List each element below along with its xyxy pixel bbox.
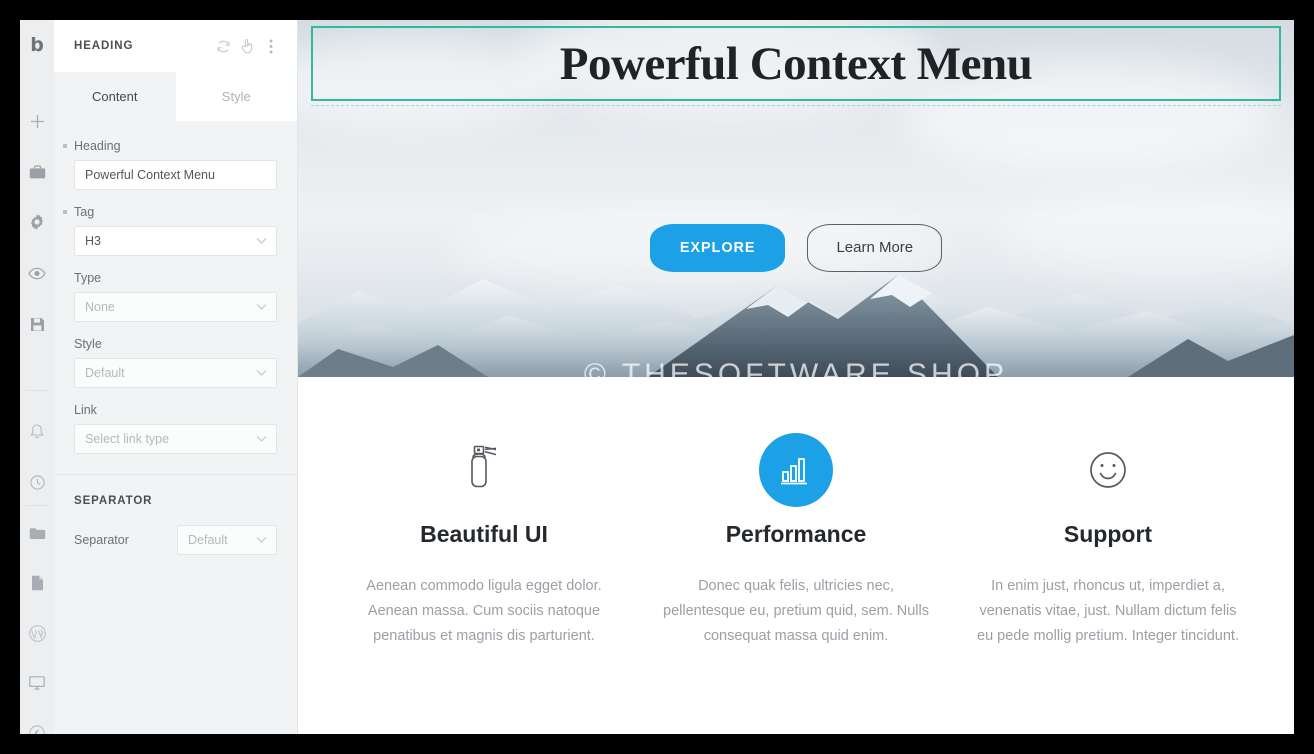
feature-text: Aenean commodo ligula egget dolor. Aenea… <box>350 574 618 649</box>
icon-circle <box>759 433 833 507</box>
spray-can-icon <box>350 433 618 507</box>
logo-icon[interactable]: b <box>20 28 54 62</box>
save-icon[interactable] <box>20 307 54 341</box>
feature-card: Performance Donec quak felis, ultricies … <box>640 433 952 649</box>
features-section: Beautiful UI Aenean commodo ligula egget… <box>298 377 1294 649</box>
hero-button-row: EXPLORE Learn More <box>298 224 1294 272</box>
feature-text: In enim just, rhoncus ut, imperdiet a, v… <box>974 574 1242 649</box>
separator-row: Separator Default <box>54 507 297 555</box>
bell-icon[interactable] <box>20 415 54 449</box>
chevron-down-icon <box>256 238 267 245</box>
hand-pointer-icon[interactable] <box>235 34 259 58</box>
separator-select[interactable]: Default <box>177 525 277 555</box>
required-dot-icon <box>63 144 67 148</box>
settings-panel: HEADING Content Style <box>54 20 298 734</box>
link-field-label: Link <box>74 403 277 417</box>
document-icon[interactable] <box>20 566 54 600</box>
learn-more-button[interactable]: Learn More <box>807 224 942 272</box>
label-text: Heading <box>74 139 121 153</box>
heading-input[interactable]: Powerful Context Menu <box>74 160 277 190</box>
reset-icon[interactable] <box>211 34 235 58</box>
feature-title: Support <box>974 521 1242 548</box>
style-select-placeholder: Default <box>85 366 125 380</box>
link-select[interactable]: Select link type <box>74 424 277 454</box>
separator-row-label: Separator <box>74 533 177 547</box>
label-text: Tag <box>74 205 94 219</box>
tab-style[interactable]: Style <box>176 72 298 121</box>
selection-guide-line <box>311 105 1281 106</box>
panel-title: HEADING <box>74 40 211 52</box>
tab-content[interactable]: Content <box>54 72 176 121</box>
link-select-placeholder: Select link type <box>85 432 169 446</box>
tag-field-label: Tag <box>74 205 277 219</box>
chevron-down-icon <box>256 537 267 544</box>
style-select[interactable]: Default <box>74 358 277 388</box>
required-dot-icon <box>63 210 67 214</box>
type-select[interactable]: None <box>74 292 277 322</box>
field-group: Heading Powerful Context Menu Tag H3 <box>54 121 297 454</box>
add-icon[interactable] <box>20 104 54 138</box>
label-text: Style <box>74 337 102 351</box>
tab-content-label: Content <box>92 89 138 104</box>
style-field-label: Style <box>74 337 277 351</box>
more-vertical-icon[interactable] <box>259 34 283 58</box>
wordpress-icon[interactable] <box>20 616 54 650</box>
rail-divider-1 <box>26 390 48 391</box>
panel-header: HEADING <box>54 20 297 72</box>
panel-body: Heading Powerful Context Menu Tag H3 <box>54 121 297 734</box>
logo-label: b <box>30 36 44 55</box>
separator-select-placeholder: Default <box>188 533 228 547</box>
label-text: Link <box>74 403 97 417</box>
feature-card: Beautiful UI Aenean commodo ligula egget… <box>328 433 640 649</box>
chevron-down-icon <box>256 304 267 311</box>
collapse-icon[interactable] <box>20 716 54 734</box>
explore-button[interactable]: EXPLORE <box>650 224 786 272</box>
feature-title: Beautiful UI <box>350 521 618 548</box>
page-canvas[interactable]: Powerful Context Menu EXPLORE Learn More… <box>298 20 1294 734</box>
smiley-icon <box>974 433 1242 507</box>
rail-divider-2 <box>26 505 48 506</box>
folder-icon[interactable] <box>20 516 54 550</box>
eye-icon[interactable] <box>20 256 54 290</box>
type-select-placeholder: None <box>85 300 115 314</box>
feature-card: Support In enim just, rhoncus ut, imperd… <box>952 433 1264 649</box>
tab-style-label: Style <box>222 89 251 104</box>
chevron-down-icon <box>256 436 267 443</box>
heading-input-value: Powerful Context Menu <box>85 168 215 182</box>
hero-heading[interactable]: Powerful Context Menu <box>560 37 1032 91</box>
feature-text: Donec quak felis, ultricies nec, pellent… <box>662 574 930 649</box>
panel-tabs: Content Style <box>54 72 297 121</box>
gear-icon[interactable] <box>20 205 54 239</box>
heading-field-label: Heading <box>74 139 277 153</box>
icon-rail: b <box>20 20 54 734</box>
label-text: Type <box>74 271 101 285</box>
hero-section: Powerful Context Menu EXPLORE Learn More… <box>298 20 1294 377</box>
tag-select[interactable]: H3 <box>74 226 277 256</box>
briefcase-icon[interactable] <box>20 155 54 189</box>
selected-element-outline[interactable]: Powerful Context Menu <box>311 26 1281 101</box>
bar-chart-icon <box>662 433 930 507</box>
monitor-icon[interactable] <box>20 666 54 700</box>
chevron-down-icon <box>256 370 267 377</box>
clock-icon[interactable] <box>20 465 54 499</box>
type-field-label: Type <box>74 271 277 285</box>
feature-title: Performance <box>662 521 930 548</box>
separator-section-title: SEPARATOR <box>54 475 297 507</box>
tag-select-value: H3 <box>85 234 101 248</box>
builder-window: b <box>20 20 1294 734</box>
